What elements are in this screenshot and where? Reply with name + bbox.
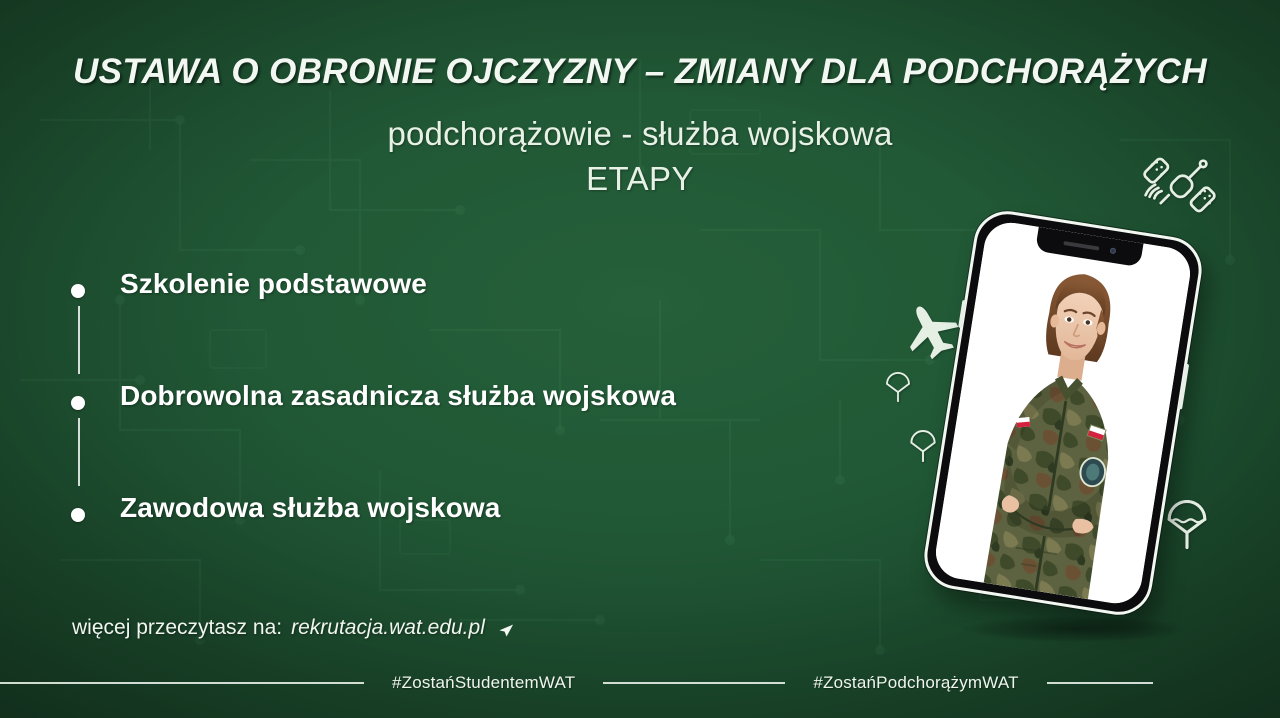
cursor-arrow-icon (494, 619, 516, 641)
more-info-prefix: więcej przeczytasz na: (72, 616, 282, 640)
parachute-icon (1164, 500, 1210, 552)
phone-body (920, 206, 1207, 619)
phone-side-button (1178, 364, 1189, 410)
stages-list: Szkolenie podstawowe Dobrowolna zasadnic… (60, 272, 860, 542)
soldier-photo (932, 219, 1194, 607)
list-item: Dobrowolna zasadnicza służba wojskowa (60, 384, 860, 496)
footer-divider-line (603, 682, 785, 684)
phone-camera-icon (1109, 247, 1116, 254)
phone-shadow (930, 612, 1220, 646)
parachute-icon (908, 430, 938, 464)
phone-speaker-icon (1063, 241, 1099, 251)
list-item: Szkolenie podstawowe (60, 272, 860, 384)
page-title: USTAWA O OBRONIE OJCZYZNY – ZMIANY DLA P… (0, 52, 1280, 92)
parachute-icon (884, 372, 912, 404)
stage-label: Szkolenie podstawowe (120, 268, 427, 300)
footer-divider-line (1047, 682, 1153, 684)
airplane-icon (898, 300, 964, 362)
hashtag-podchorazy: #ZostańPodchorążymWAT (785, 673, 1046, 693)
more-info-line: więcej przeczytasz na: rekrutacja.wat.ed… (72, 616, 516, 640)
bullet-dot-icon (71, 396, 85, 410)
slide-root: USTAWA O OBRONIE OJCZYZNY – ZMIANY DLA P… (0, 0, 1280, 718)
subtitle-line-1: podchorążowie - służba wojskowa (0, 115, 1280, 153)
list-item: Zawodowa służba wojskowa (60, 496, 860, 542)
bullet-dot-icon (71, 508, 85, 522)
footer-hashtag-bar: #ZostańStudentemWAT #ZostańPodchorążymWA… (0, 672, 1280, 694)
hashtag-student: #ZostańStudentemWAT (364, 673, 603, 693)
recruitment-url-link[interactable]: rekrutacja.wat.edu.pl (291, 616, 485, 640)
stage-label: Dobrowolna zasadnicza służba wojskowa (120, 380, 676, 412)
phone-screen (932, 219, 1194, 607)
stage-connector-line (78, 418, 80, 486)
phone-volume-button (958, 300, 966, 328)
bullet-dot-icon (71, 284, 85, 298)
stage-connector-line (78, 306, 80, 374)
subtitle-line-2: ETAPY (0, 160, 1280, 198)
stage-label: Zawodowa służba wojskowa (120, 492, 500, 524)
phone-mockup (920, 206, 1207, 619)
footer-divider-line (0, 682, 364, 684)
